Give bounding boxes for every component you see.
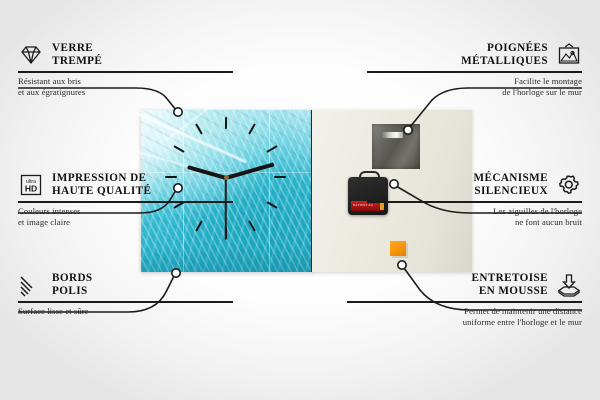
callout-rule: [18, 71, 233, 73]
svg-text:HD: HD: [25, 184, 37, 194]
metal-hanger-plate: [372, 124, 420, 169]
polished-edges-icon: [18, 273, 44, 297]
callout-entretoise-en-mousse[interactable]: ENTRETOISE EN MOUSSE Permet de maintenir…: [347, 272, 582, 328]
callout-head: ultra HD IMPRESSION DE HAUTE QUALITÉ: [18, 172, 233, 198]
callout-rule: [367, 201, 582, 203]
callout-rule: [18, 301, 233, 303]
callout-mecanisme-silencieux[interactable]: MÉCANISME SILENCIEUX Les aiguilles de l'…: [367, 172, 582, 228]
ultra-hd-icon: ultra HD: [18, 173, 44, 197]
callout-head: BORDS POLIS: [18, 272, 233, 298]
callout-title: VERRE TREMPÉ: [52, 42, 102, 68]
callout-title: BORDS POLIS: [52, 272, 93, 298]
callout-title: ENTRETOISE EN MOUSSE: [471, 272, 548, 298]
callout-rule: [18, 201, 233, 203]
callout-desc: Surface lisse et sûre: [18, 306, 233, 317]
picture-hanger-icon: [556, 43, 582, 67]
foam-spacer-icon: [556, 273, 582, 297]
gear-icon: [556, 173, 582, 197]
clock-tick: [225, 117, 227, 129]
callout-head: VERRE TREMPÉ: [18, 42, 233, 68]
callout-rule: [347, 301, 582, 303]
callout-title: IMPRESSION DE HAUTE QUALITÉ: [52, 172, 151, 198]
diamond-icon: [18, 43, 44, 67]
callout-desc: Résistant aux bris et aux égratignures: [18, 76, 233, 98]
callout-verre-trempe[interactable]: VERRE TREMPÉ Résistant aux bris et aux é…: [18, 42, 233, 98]
callout-rule: [367, 71, 582, 73]
hanger-slot: [381, 132, 403, 138]
callout-poignees-metalliques[interactable]: POIGNÉES MÉTALLIQUES Facilite le montage…: [367, 42, 582, 98]
callout-desc: Permet de maintenir une distance uniform…: [347, 306, 582, 328]
callout-title: MÉCANISME SILENCIEUX: [474, 172, 548, 198]
foam-spacer: [390, 241, 406, 256]
clock-tick: [274, 176, 286, 178]
callout-desc: Facilite le montage de l'horloge sur le …: [367, 76, 582, 98]
infographic-canvas: BATTERY AA: [0, 0, 600, 400]
callout-impression-haute-qualite[interactable]: ultra HD IMPRESSION DE HAUTE QUALITÉ Cou…: [18, 172, 233, 228]
callout-desc: Les aiguilles de l'horloge ne font aucun…: [367, 206, 582, 228]
callout-head: ENTRETOISE EN MOUSSE: [347, 272, 582, 298]
callout-head: MÉCANISME SILENCIEUX: [367, 172, 582, 198]
callout-title: POIGNÉES MÉTALLIQUES: [461, 42, 548, 68]
callout-desc: Couleurs intenses et image claire: [18, 206, 233, 228]
callout-bords-polis[interactable]: BORDS POLIS Surface lisse et sûre: [18, 272, 233, 317]
callout-head: POIGNÉES MÉTALLIQUES: [367, 42, 582, 68]
panel-shade: [141, 246, 311, 272]
